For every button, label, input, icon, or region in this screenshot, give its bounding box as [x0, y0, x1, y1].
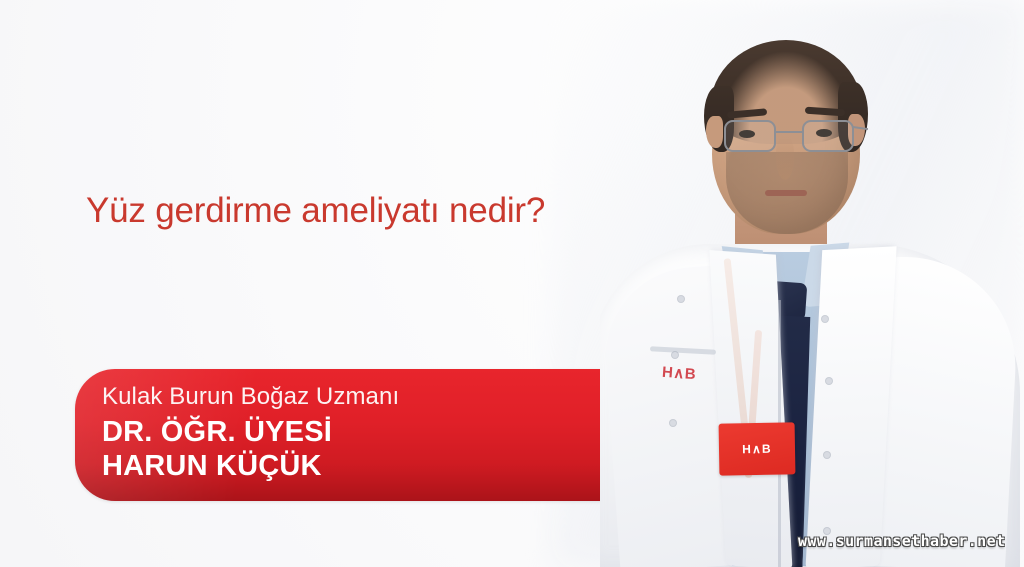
eyeglasses-bridge [776, 131, 802, 133]
ear-left [706, 116, 723, 148]
site-watermark: www.surmansethaber.net [798, 532, 1005, 550]
lab-coat-button [824, 452, 830, 458]
credential-banner: Kulak Burun Boğaz Uzmanı DR. ÖĞR. ÜYESİ … [75, 369, 646, 501]
lab-coat-button [670, 420, 676, 426]
doctor-portrait: H∧B H∧B [600, 0, 1024, 567]
id-badge: H∧B [719, 422, 796, 475]
lab-coat-button [826, 378, 832, 384]
article-hero-image: Yüz gerdirme ameliyatı nedir? Kulak Buru… [0, 0, 1024, 567]
page-title: Yüz gerdirme ameliyatı nedir? [86, 191, 545, 231]
credential-banner-content: Kulak Burun Boğaz Uzmanı DR. ÖĞR. ÜYESİ … [102, 382, 399, 484]
doctor-name: HARUN KÜÇÜK [102, 450, 399, 484]
mouth [765, 190, 807, 196]
eyeglasses-left-lens [724, 120, 776, 152]
doctor-academic-title: DR. ÖĞR. ÜYESİ [102, 416, 399, 450]
chest-logo: H∧B [661, 363, 696, 383]
lab-coat-button [678, 296, 684, 302]
lab-coat-button [672, 352, 678, 358]
doctor-specialty: Kulak Burun Boğaz Uzmanı [102, 382, 399, 413]
id-badge-label: H∧B [742, 442, 772, 457]
eyeglasses-right-lens [802, 120, 854, 152]
lab-coat-button [822, 316, 828, 322]
nose [776, 136, 794, 180]
